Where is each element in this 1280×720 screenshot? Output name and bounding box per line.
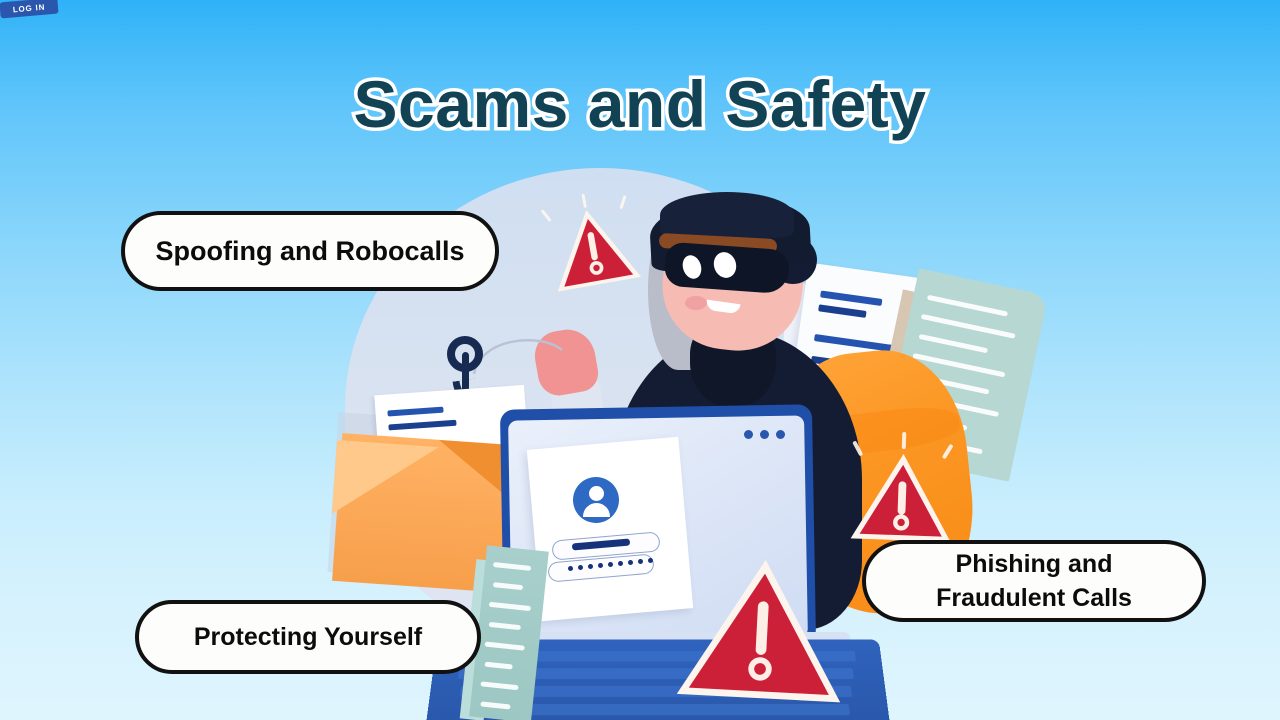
password-dot bbox=[648, 558, 653, 563]
login-card bbox=[527, 437, 693, 622]
password-dot bbox=[638, 559, 643, 564]
window-dot-2 bbox=[760, 430, 769, 439]
password-dot bbox=[588, 564, 593, 569]
chip-label: Protecting Yourself bbox=[194, 623, 422, 652]
window-dot-1 bbox=[744, 430, 753, 439]
chip-spoofing-and-robocalls[interactable]: Spoofing and Robocalls bbox=[121, 211, 499, 291]
chip-protecting-yourself[interactable]: Protecting Yourself bbox=[135, 600, 481, 674]
page-title: Scams and Safety bbox=[0, 66, 1280, 142]
password-dot bbox=[598, 563, 603, 568]
password-dot bbox=[628, 560, 633, 565]
envelope-flap-left bbox=[332, 440, 439, 521]
chip-phishing-and-fraudulent-calls[interactable]: Phishing and Fraudulent Calls bbox=[862, 540, 1206, 622]
window-dot-3 bbox=[776, 430, 785, 439]
password-dot bbox=[608, 562, 613, 567]
login-button[interactable]: LOG IN bbox=[0, 0, 59, 18]
warning-triangle-icon bbox=[540, 198, 646, 299]
poster-canvas: LOG IN bbox=[0, 0, 1280, 720]
warning-triangle-icon bbox=[672, 552, 852, 711]
password-dot bbox=[568, 566, 573, 571]
chip-label-line2: Fraudulent Calls bbox=[936, 581, 1132, 616]
chip-label-line1: Phishing and bbox=[956, 547, 1113, 582]
avatar-head bbox=[589, 486, 604, 501]
password-dot bbox=[618, 561, 623, 566]
chip-label: Spoofing and Robocalls bbox=[156, 236, 465, 267]
thief-cheek bbox=[685, 296, 707, 310]
password-dot bbox=[578, 565, 583, 570]
warning-triangle-icon bbox=[846, 448, 957, 548]
cap-crown bbox=[660, 192, 794, 238]
